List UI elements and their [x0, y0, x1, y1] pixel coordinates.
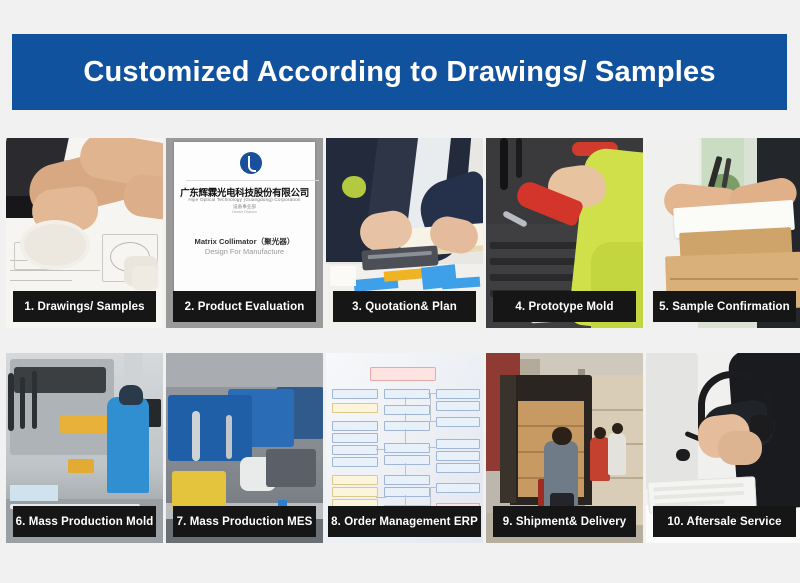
card-3-label: 3. Quotation& Plan	[333, 291, 476, 322]
page-title: Customized According to Drawings/ Sample…	[83, 56, 715, 89]
page-banner: Customized According to Drawings/ Sample…	[12, 34, 787, 110]
process-row-1: 1. Drawings/ Samples 广东辉霖光电科技股份有限公司 Hiji…	[6, 138, 796, 328]
card-5-label: 5. Sample Confirmation	[653, 291, 796, 322]
slide-company-name-en: Hijie Optical Technology (Guangdong) Cor…	[174, 197, 315, 202]
process-card-4[interactable]: 4. Prototype Mold	[486, 138, 643, 328]
card-4-label: 4. Prototype Mold	[493, 291, 636, 322]
card-6-label: 6. Mass Production Mold	[13, 506, 156, 537]
process-card-1[interactable]: 1. Drawings/ Samples	[6, 138, 163, 328]
process-card-3[interactable]: 3. Quotation& Plan	[326, 138, 483, 328]
process-card-6[interactable]: 6. Mass Production Mold	[6, 353, 163, 543]
card-10-label: 10. Aftersale Service	[653, 506, 796, 537]
process-card-2[interactable]: 广东辉霖光电科技股份有限公司 Hijie Optical Technology …	[166, 138, 323, 328]
slide-product-title: Matrix Collimator（聚光器）	[174, 236, 315, 247]
company-logo-icon	[240, 152, 262, 174]
slide-product-subtitle: Design For Manufacture	[174, 247, 315, 256]
card-2-label: 2. Product Evaluation	[173, 291, 316, 322]
slide-subtitle-en: Device Division	[174, 210, 315, 214]
card-9-label: 9. Shipment& Delivery	[493, 506, 636, 537]
flowchart-title-box	[370, 367, 436, 381]
process-card-10[interactable]: 10. Aftersale Service	[646, 353, 800, 543]
card-1-label: 1. Drawings/ Samples	[13, 291, 156, 322]
process-card-5[interactable]: 5. Sample Confirmation	[646, 138, 800, 328]
card-7-label: 7. Mass Production MES	[173, 506, 316, 537]
process-card-9[interactable]: 9. Shipment& Delivery	[486, 353, 643, 543]
process-grid: 1. Drawings/ Samples 广东辉霖光电科技股份有限公司 Hiji…	[6, 138, 796, 568]
process-card-7[interactable]: 7. Mass Production MES	[166, 353, 323, 543]
process-card-8[interactable]: 8. Order Management ERP	[326, 353, 483, 543]
process-row-2: 6. Mass Production Mold	[6, 353, 796, 543]
card-8-label: 8. Order Management ERP	[328, 506, 481, 537]
process-infographic-page: Customized According to Drawings/ Sample…	[0, 0, 800, 583]
